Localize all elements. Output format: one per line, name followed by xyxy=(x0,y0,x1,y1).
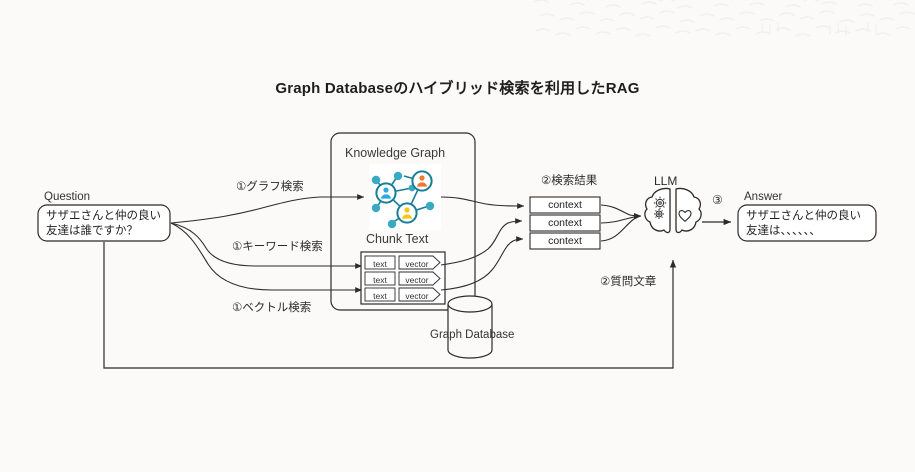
llm-brain-icon xyxy=(645,188,701,232)
retrieval-arrow-vector xyxy=(171,223,362,290)
graph-database-cylinder xyxy=(448,296,492,358)
result-arrow-3 xyxy=(441,239,523,290)
question-text: サザエさんと仲の良い 友達は誰ですか？ xyxy=(46,209,161,239)
chunk-cell-text-2: text xyxy=(365,275,395,285)
question-label: Question xyxy=(44,191,90,203)
chunk-cell-text-1: text xyxy=(365,259,395,269)
question-line-1: サザエさんと仲の良い xyxy=(46,209,161,224)
knowledge-graph-icon xyxy=(369,164,441,230)
result-arrow-1 xyxy=(441,197,524,206)
retrieval-arrow-graph xyxy=(171,197,364,223)
chunk-cell-vector-3: vector xyxy=(399,291,435,301)
retrieval-label-vector: ①ベクトル検索 xyxy=(232,299,311,315)
retrieval-label-graph: ①グラフ検索 xyxy=(236,178,304,194)
context-box-1: context xyxy=(530,199,600,211)
chunk-cell-vector-1: vector xyxy=(399,259,435,269)
chunk-text-label: Chunk Text xyxy=(366,232,428,246)
page-title: Graph Databaseのハイブリッド検索を利用したRAG xyxy=(0,77,915,98)
search-results-label: ②検索結果 xyxy=(541,172,597,188)
answer-label: Answer xyxy=(744,191,782,203)
answer-line-1: サザエさんと仲の良い xyxy=(746,209,861,224)
graph-database-label: Graph Database xyxy=(430,329,514,341)
answer-line-2: 友達は、、、、、、 xyxy=(746,224,861,239)
context-to-llm-arrows xyxy=(601,205,641,241)
context-box-3: context xyxy=(530,235,600,247)
llm-label: LLM xyxy=(654,174,677,188)
question-line-2: 友達は誰ですか？ xyxy=(46,224,161,239)
knowledge-graph-label: Knowledge Graph xyxy=(345,146,445,160)
chunk-cell-text-3: text xyxy=(365,291,395,301)
retrieval-label-keyword: ①キーワード検索 xyxy=(232,238,323,254)
answer-text: サザエさんと仲の良い 友達は、、、、、、 xyxy=(746,209,861,239)
step-3-label: ③ xyxy=(712,193,723,207)
context-box-2: context xyxy=(530,217,600,229)
diagram-canvas: Graph Databaseのハイブリッド検索を利用したRAG Question… xyxy=(0,0,915,472)
chunk-cell-vector-2: vector xyxy=(399,275,435,285)
question-feedback-label: ②質問文章 xyxy=(600,273,656,289)
